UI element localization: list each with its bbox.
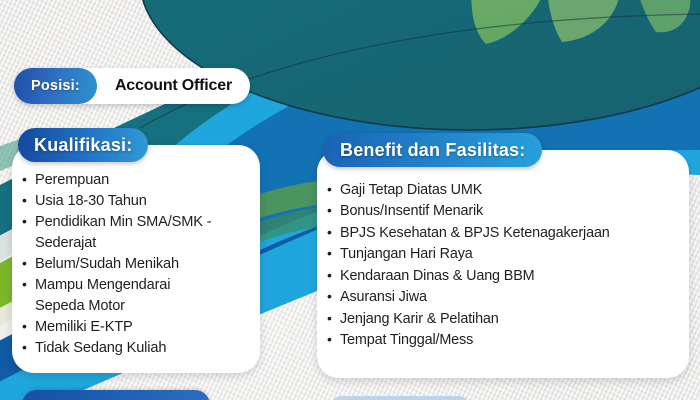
bottom-pill-right-decoration xyxy=(330,396,470,400)
qualifications-heading-badge: Kualifikasi: xyxy=(18,128,148,162)
qualification-item: Pendidikan Min SMA/SMK - xyxy=(22,212,258,233)
qualification-item: Usia 18-30 Tahun xyxy=(22,191,258,212)
benefit-item: Kendaraan Dinas & Uang BBM xyxy=(327,266,689,287)
benefit-item: Asuransi Jiwa xyxy=(327,287,689,308)
benefit-item: Tunjangan Hari Raya xyxy=(327,244,689,265)
benefit-item: Jenjang Karir & Pelatihan xyxy=(327,309,689,330)
benefit-item: Gaji Tetap Diatas UMK xyxy=(327,180,689,201)
qualification-item: Memiliki E-KTP xyxy=(22,317,258,338)
bottom-pill-decoration xyxy=(22,390,210,400)
position-value: Account Officer xyxy=(97,77,232,95)
benefit-item: Tempat Tinggal/Mess xyxy=(327,330,689,351)
benefits-heading-badge: Benefit dan Fasilitas: xyxy=(323,133,542,167)
qualification-item: Sepeda Motor xyxy=(22,296,258,317)
qualification-item: Sederajat xyxy=(22,233,258,254)
qualification-item: Belum/Sudah Menikah xyxy=(22,254,258,275)
benefit-item: Bonus/Insentif Menarik xyxy=(327,201,689,222)
qualification-item: Perempuan xyxy=(22,170,258,191)
qualification-item: Tidak Sedang Kuliah xyxy=(22,338,258,359)
position-label-badge: Posisi: xyxy=(14,68,97,104)
qualifications-list: PerempuanUsia 18-30 TahunPendidikan Min … xyxy=(22,170,258,359)
position-bar: Posisi: Account Officer xyxy=(14,68,250,104)
benefits-list: Gaji Tetap Diatas UMKBonus/Insentif Mena… xyxy=(327,180,689,352)
benefit-item: BPJS Kesehatan & BPJS Ketenagakerjaan xyxy=(327,223,689,244)
qualification-item: Mampu Mengendarai xyxy=(22,275,258,296)
job-vacancy-poster: Posisi: Account Officer Kualifikasi: Per… xyxy=(0,0,700,400)
